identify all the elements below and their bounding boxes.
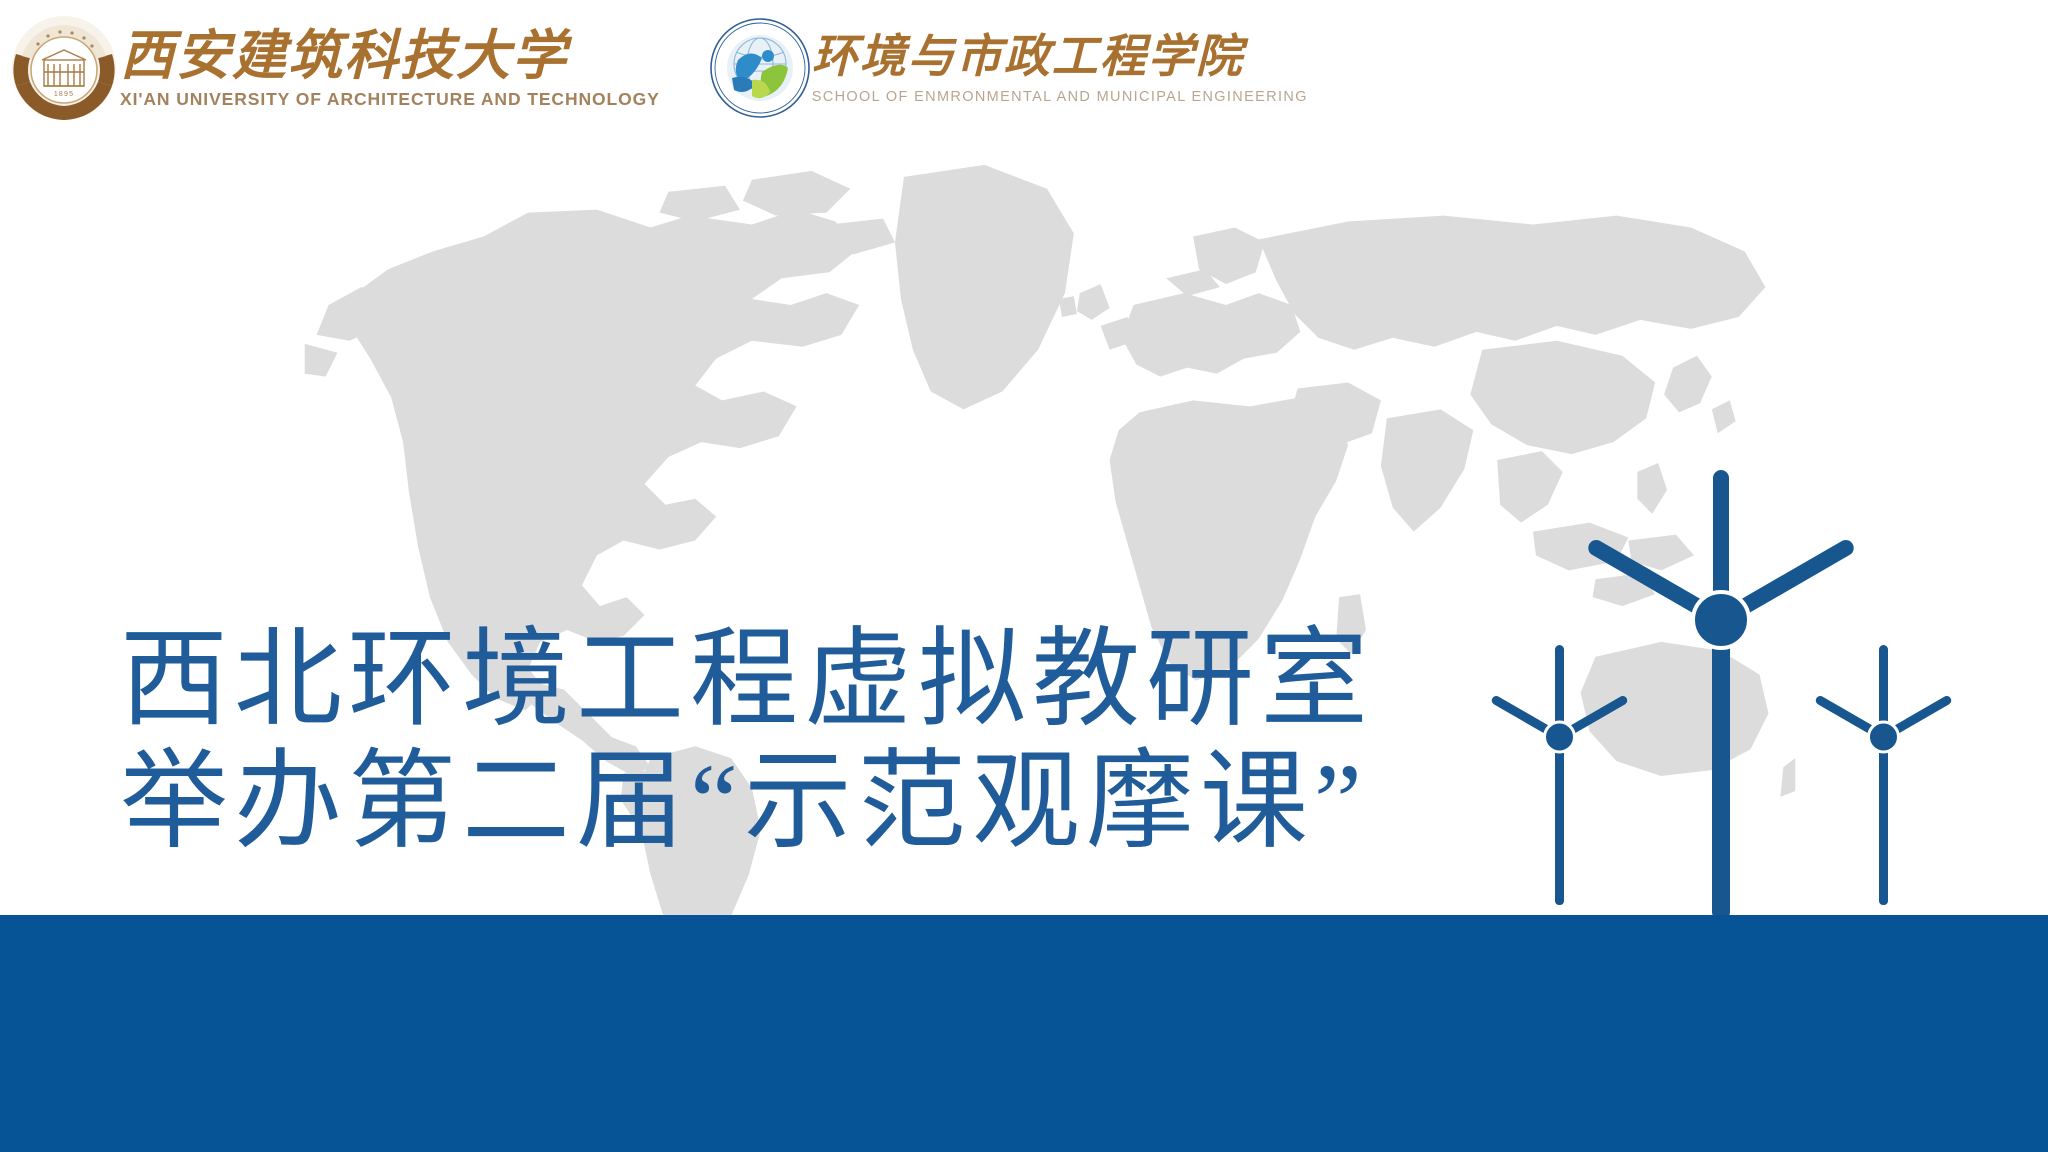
school-name-cn: 环境与市政工程学院 [812,31,1308,83]
university-name-en: XI'AN UNIVERSITY OF ARCHITECTURE AND TEC… [120,89,660,110]
wind-turbine-small-left [1490,645,1629,905]
svg-text:1895: 1895 [54,91,74,98]
school-emblem-icon [708,16,812,120]
wind-turbine-small-right [1814,645,1953,905]
school-logo-text: 环境与市政工程学院 SCHOOL OF ENMRONMENTAL AND MUN… [812,31,1308,105]
university-logo-text: 西安建筑科技大学 XI'AN UNIVERSITY OF ARCHITECTUR… [120,26,660,110]
wind-turbine-group [1470,450,2000,920]
university-logo: 1895 西安建筑科技大学 XI'AN UNIVERSITY OF ARCHIT… [8,12,660,124]
school-name-en: SCHOOL OF ENMRONMENTAL AND MUNICIPAL ENG… [812,89,1308,105]
wind-turbine-large-center [1585,470,1856,920]
university-name-cn: 西安建筑科技大学 [120,26,660,86]
bottom-accent-band [0,915,2048,1152]
xauat-seal-icon: 1895 [8,12,120,124]
page-title: 西北环境工程虚拟教研室 举办第二届“示范观摩课” [120,620,1374,864]
title-line-2: 举办第二届“示范观摩课” [120,742,1374,864]
title-line-1: 西北环境工程虚拟教研室 [120,620,1374,742]
school-logo: 环境与市政工程学院 SCHOOL OF ENMRONMENTAL AND MUN… [708,16,1308,120]
presentation-slide: 1895 西安建筑科技大学 XI'AN UNIVERSITY OF ARCHIT… [0,0,2048,1152]
logo-bar: 1895 西安建筑科技大学 XI'AN UNIVERSITY OF ARCHIT… [0,0,2048,135]
